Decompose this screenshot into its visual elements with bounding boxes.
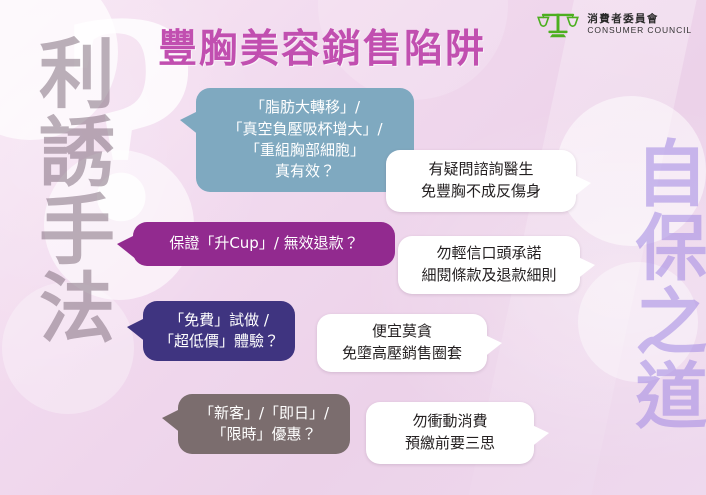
question-bubble-2: 保證「升Cup」/ 無效退款？ [133, 222, 395, 266]
question-bubble-3: 「免費」試做 / 「超低價」體驗？ [143, 301, 295, 361]
question-line: 「免費」試做 / [169, 310, 269, 331]
answer-line: 預繳前要三思 [405, 433, 495, 455]
logo-name-en: CONSUMER COUNCIL [587, 26, 692, 35]
question-line: 保證「升Cup」/ 無效退款？ [169, 233, 358, 254]
answer-line: 勿衝動消費 [412, 411, 487, 433]
decorative-blob [578, 262, 698, 382]
answer-bubble-2: 勿輕信口頭承諾 細閱條款及退款細則 [398, 236, 580, 294]
question-line: 「超低價」體驗？ [159, 331, 279, 352]
answer-bubble-4: 勿衝動消費 預繳前要三思 [366, 402, 534, 464]
watermark-left-text: 利誘手法 [14, 34, 124, 346]
question-line: 「重組胸部細胞」 [245, 140, 365, 161]
question-bubble-4: 「新客」/「即日」/ 「限時」優惠？ [178, 394, 350, 454]
answer-bubble-1: 有疑問諮詢醫生 免豐胸不成反傷身 [386, 150, 576, 212]
infographic-canvas: ? 利誘手法 自保之道 豐胸美容銷售陷阱 消費者委員會 CONSUMER COU… [0, 0, 706, 495]
question-line: 「新客」/「即日」/ [199, 403, 329, 424]
question-line: 「脂肪大轉移」/ [250, 97, 360, 118]
answer-line: 勿輕信口頭承諾 [436, 243, 541, 265]
answer-line: 免豐胸不成反傷身 [421, 181, 541, 203]
answer-bubble-3: 便宜莫貪 免墮高壓銷售圈套 [317, 314, 487, 372]
consumer-council-logo: 消費者委員會 CONSUMER COUNCIL [536, 9, 692, 39]
answer-line: 便宜莫貪 [372, 321, 432, 343]
balance-scale-icon [536, 9, 580, 39]
question-bubble-1: 「脂肪大轉移」/ 「真空負壓吸杯增大」/ 「重組胸部細胞」 真有效？ [196, 88, 414, 192]
answer-line: 有疑問諮詢醫生 [428, 159, 533, 181]
decorative-blob [2, 282, 134, 414]
question-line: 真有效？ [275, 161, 335, 182]
question-line: 「真空負壓吸杯增大」/ [227, 119, 382, 140]
decorative-blob [556, 96, 706, 246]
decorative-blob [0, 0, 118, 140]
answer-line: 免墮高壓銷售圈套 [342, 343, 462, 365]
logo-name-cn: 消費者委員會 [587, 14, 692, 25]
watermark-right-text: 自保之道 [612, 136, 706, 432]
question-line: 「限時」優惠？ [211, 424, 316, 445]
answer-line: 細閱條款及退款細則 [421, 265, 556, 287]
page-title: 豐胸美容銷售陷阱 [158, 18, 486, 74]
